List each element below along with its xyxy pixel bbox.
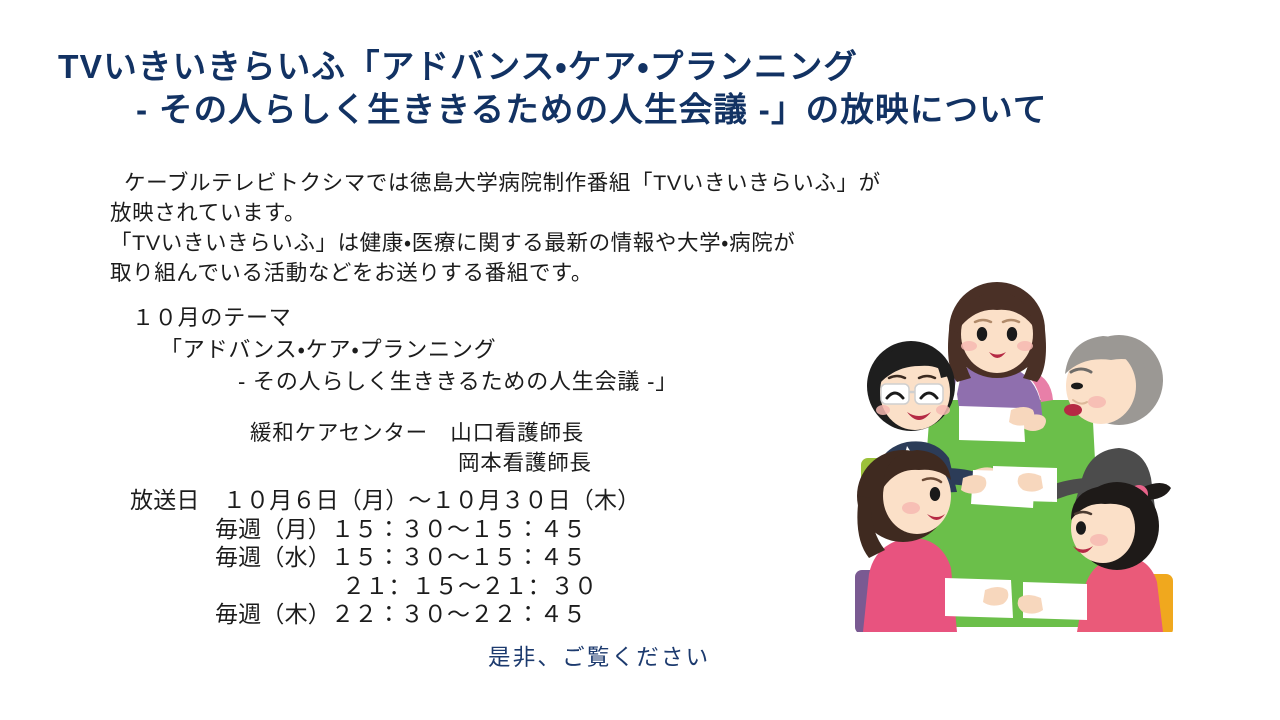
schedule-row-mon: 毎週（月）１５：３０〜１５：４５ bbox=[110, 515, 870, 544]
schedule-row-thu: 毎週（木）２２：３０〜２２：４５ bbox=[110, 600, 870, 629]
intro-line-1: ケーブルテレビトクシマでは徳島大学病院制作番組「TVいきいきらいふ」が bbox=[110, 168, 950, 198]
intro-line-2: 放映されています。 bbox=[110, 198, 950, 228]
title-line-2: ‐ その人らしく生ききるための人生会議 ‐」の放映について bbox=[58, 89, 1188, 132]
closing-message: 是非、ご覧ください bbox=[488, 640, 710, 672]
theme-block: １０月のテーマ 「アドバンス・ケア・プランニング - その人らしく生ききるための… bbox=[110, 302, 870, 398]
title-line-1: TVいきいきらいふ「アドバンス・ケア・プランニング bbox=[58, 46, 1188, 89]
page-title: TVいきいきらいふ「アドバンス・ケア・プランニング ‐ その人らしく生ききるため… bbox=[58, 46, 1188, 132]
staff-line-1: 緩和ケアセンター 山口看護師長 bbox=[110, 418, 870, 448]
theme-line-2: - その人らしく生ききるための人生会議 -」 bbox=[110, 366, 870, 398]
schedule-row-wed: 毎週（水）１５：３０〜１５：４５ bbox=[110, 543, 870, 572]
broadcast-schedule: 放送日 １０月６日（月）〜１０月３０日（木） 毎週（月）１５：３０〜１５：４５ … bbox=[110, 486, 870, 629]
theme-line-1: 「アドバンス・ケア・プランニング bbox=[110, 334, 870, 366]
slide-canvas: TVいきいきらいふ「アドバンス・ケア・プランニング ‐ その人らしく生ききるため… bbox=[0, 0, 1280, 720]
staff-block: 緩和ケアセンター 山口看護師長 岡本看護師長 bbox=[110, 418, 870, 478]
intro-line-4: 取り組んでいる活動などをお送りする番組です。 bbox=[110, 258, 950, 288]
intro-paragraph: ケーブルテレビトクシマでは徳島大学病院制作番組「TVいきいきらいふ」が 放映され… bbox=[110, 168, 950, 288]
intro-line-3: 「TVいきいきらいふ」は健康・医療に関する最新の情報や大学・病院が bbox=[110, 228, 950, 258]
theme-heading: １０月のテーマ bbox=[110, 302, 870, 334]
schedule-period: 放送日 １０月６日（月）〜１０月３０日（木） bbox=[110, 486, 870, 515]
schedule-row-wed-night: ２１：１５〜２１：３０ bbox=[110, 572, 870, 601]
staff-line-2: 岡本看護師長 bbox=[110, 448, 870, 478]
group-discussion-illustration bbox=[845, 282, 1183, 632]
